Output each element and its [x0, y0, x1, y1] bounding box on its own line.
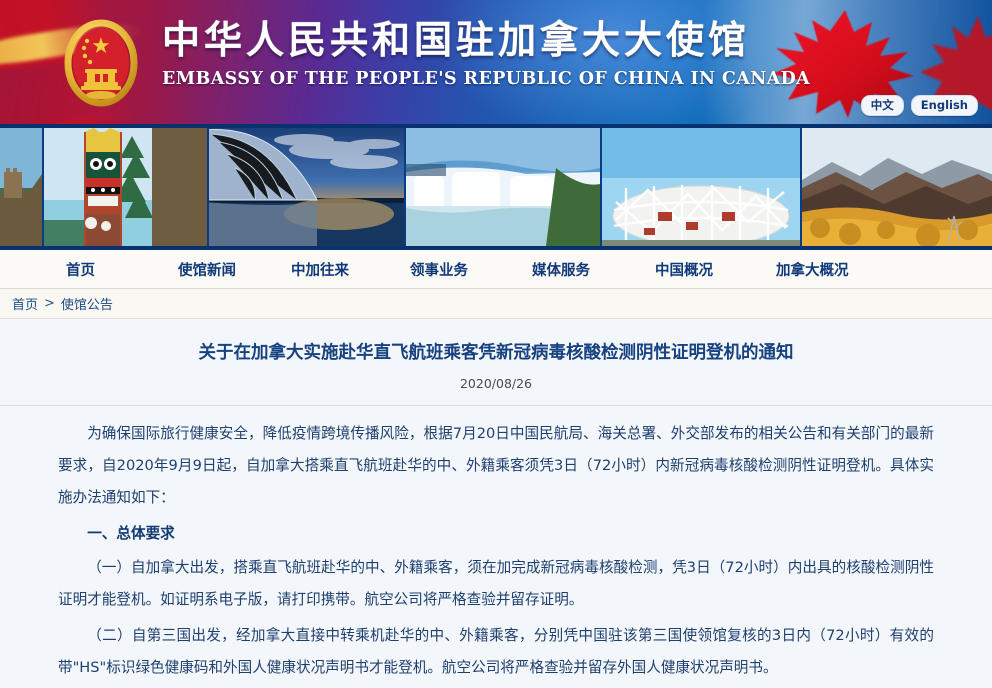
paragraph-intro: 为确保国际旅行健康安全，降低疫情跨境传播风险，根据7月20日中国民航局、海关总署…	[58, 418, 934, 514]
site-title-english: EMBASSY OF THE PEOPLE'S REPUBLIC OF CHIN…	[162, 69, 762, 89]
photo-banner-strip	[0, 124, 992, 250]
language-switcher: 中文 English	[861, 95, 978, 116]
paragraph-item-two: （二）自第三国出发，经加拿大直接中转乘机赴华的中、外籍乘客，分别凭中国驻该第三国…	[58, 620, 934, 684]
photo-birds-nest-stadium[interactable]	[602, 128, 802, 246]
photo-autumn-mountains[interactable]	[802, 128, 992, 246]
photo-national-centre-performing-arts[interactable]	[209, 128, 406, 246]
embassy-webpage: 中华人民共和国驻加拿大大使馆 EMBASSY OF THE PEOPLE'S R…	[0, 0, 992, 687]
nav-media-services[interactable]: 媒体服务	[532, 259, 655, 280]
breadcrumb: 首页 > 使馆公告	[0, 289, 992, 319]
site-header-banner: 中华人民共和国驻加拿大大使馆 EMBASSY OF THE PEOPLE'S R…	[0, 0, 992, 124]
article-body: 为确保国际旅行健康安全，降低疫情跨境传播风险，根据7月20日中国民航局、海关总署…	[0, 406, 992, 688]
breadcrumb-separator: >	[44, 296, 55, 311]
nav-about-canada[interactable]: 加拿大概况	[776, 259, 849, 280]
lang-chinese[interactable]: 中文	[861, 95, 904, 116]
page-title: 关于在加拿大实施赴华直飞航班乘客凭新冠病毒核酸检测阴性证明登机的通知	[0, 319, 992, 366]
nav-embassy-news[interactable]: 使馆新闻	[178, 259, 291, 280]
photo-totem-pole[interactable]	[44, 128, 209, 246]
photo-niagara-falls[interactable]	[406, 128, 602, 246]
article-date: 2020/08/26	[0, 376, 992, 391]
photo-great-wall-fortress[interactable]	[0, 128, 44, 246]
breadcrumb-home[interactable]: 首页	[12, 294, 38, 313]
paragraph-section-one-heading: 一、总体要求	[58, 518, 934, 550]
breadcrumb-current[interactable]: 使馆公告	[61, 294, 113, 313]
lang-english[interactable]: English	[911, 95, 978, 116]
site-title-chinese: 中华人民共和国驻加拿大大使馆	[162, 18, 762, 63]
nav-about-china[interactable]: 中国概况	[655, 259, 776, 280]
nav-china-canada-relations[interactable]: 中加往来	[291, 259, 410, 280]
header-title-block: 中华人民共和国驻加拿大大使馆 EMBASSY OF THE PEOPLE'S R…	[162, 18, 762, 89]
china-national-emblem-icon	[58, 17, 144, 109]
paragraph-item-one: （一）自加拿大出发，搭乘直飞航班赴华的中、外籍乘客，须在加完成新冠病毒核酸检测，…	[58, 552, 934, 616]
main-navigation: 首页 使馆新闻 中加往来 领事业务 媒体服务 中国概况 加拿大概况	[0, 250, 992, 289]
article-container: 关于在加拿大实施赴华直飞航班乘客凭新冠病毒核酸检测阴性证明登机的通知 2020/…	[0, 319, 992, 688]
nav-consular-services[interactable]: 领事业务	[410, 259, 532, 280]
nav-home[interactable]: 首页	[66, 259, 178, 280]
